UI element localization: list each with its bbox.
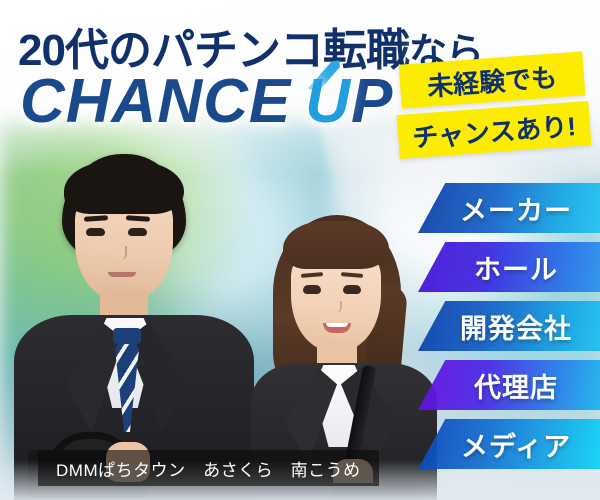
credit-bar: DMMぱちタウン あさくら 南こうめ: [38, 450, 379, 486]
male-nose: [117, 246, 127, 260]
male-eye-right: [128, 228, 147, 236]
logo-word-up: UP: [305, 66, 393, 137]
logo-word-chance: CHANCE: [20, 67, 291, 136]
male-eye-left: [86, 228, 105, 236]
category-label-agency: 代理店: [460, 366, 558, 405]
photo-male-model: [20, 150, 250, 500]
female-eye-right: [343, 285, 361, 294]
male-mouth: [108, 272, 136, 277]
male-tie-knot: [113, 328, 141, 344]
male-fringe: [64, 162, 184, 214]
category-button-agency[interactable]: 代理店: [418, 360, 600, 410]
female-eye-left: [303, 285, 321, 294]
badge-chance-available-label: チャンスあり!: [411, 106, 577, 155]
badge-no-experience-label: 未経験でも: [426, 57, 558, 103]
category-label-media: メディア: [447, 425, 571, 464]
logo-chance-up: CHANCEUP: [20, 66, 393, 137]
female-fringe: [283, 221, 389, 269]
category-button-maker[interactable]: メーカー: [418, 183, 600, 233]
logo-letter-u: U: [305, 67, 351, 136]
category-label-development-company: 開発会社: [446, 307, 572, 346]
category-button-hall[interactable]: ホール: [418, 242, 600, 292]
category-label-maker: メーカー: [446, 189, 572, 228]
credit-text: DMMぱちタウン あさくら 南こうめ: [56, 456, 361, 481]
promo-banner: 20代のパチンコ転職なら CHANCEUP 未経験でも チャンスあり! メーカー…: [0, 0, 600, 500]
category-label-hall: ホール: [460, 248, 558, 287]
female-teeth: [326, 323, 348, 327]
category-button-development-company[interactable]: 開発会社: [418, 301, 600, 351]
category-button-media[interactable]: メディア: [418, 419, 600, 469]
logo-letter-p: P: [351, 67, 393, 136]
